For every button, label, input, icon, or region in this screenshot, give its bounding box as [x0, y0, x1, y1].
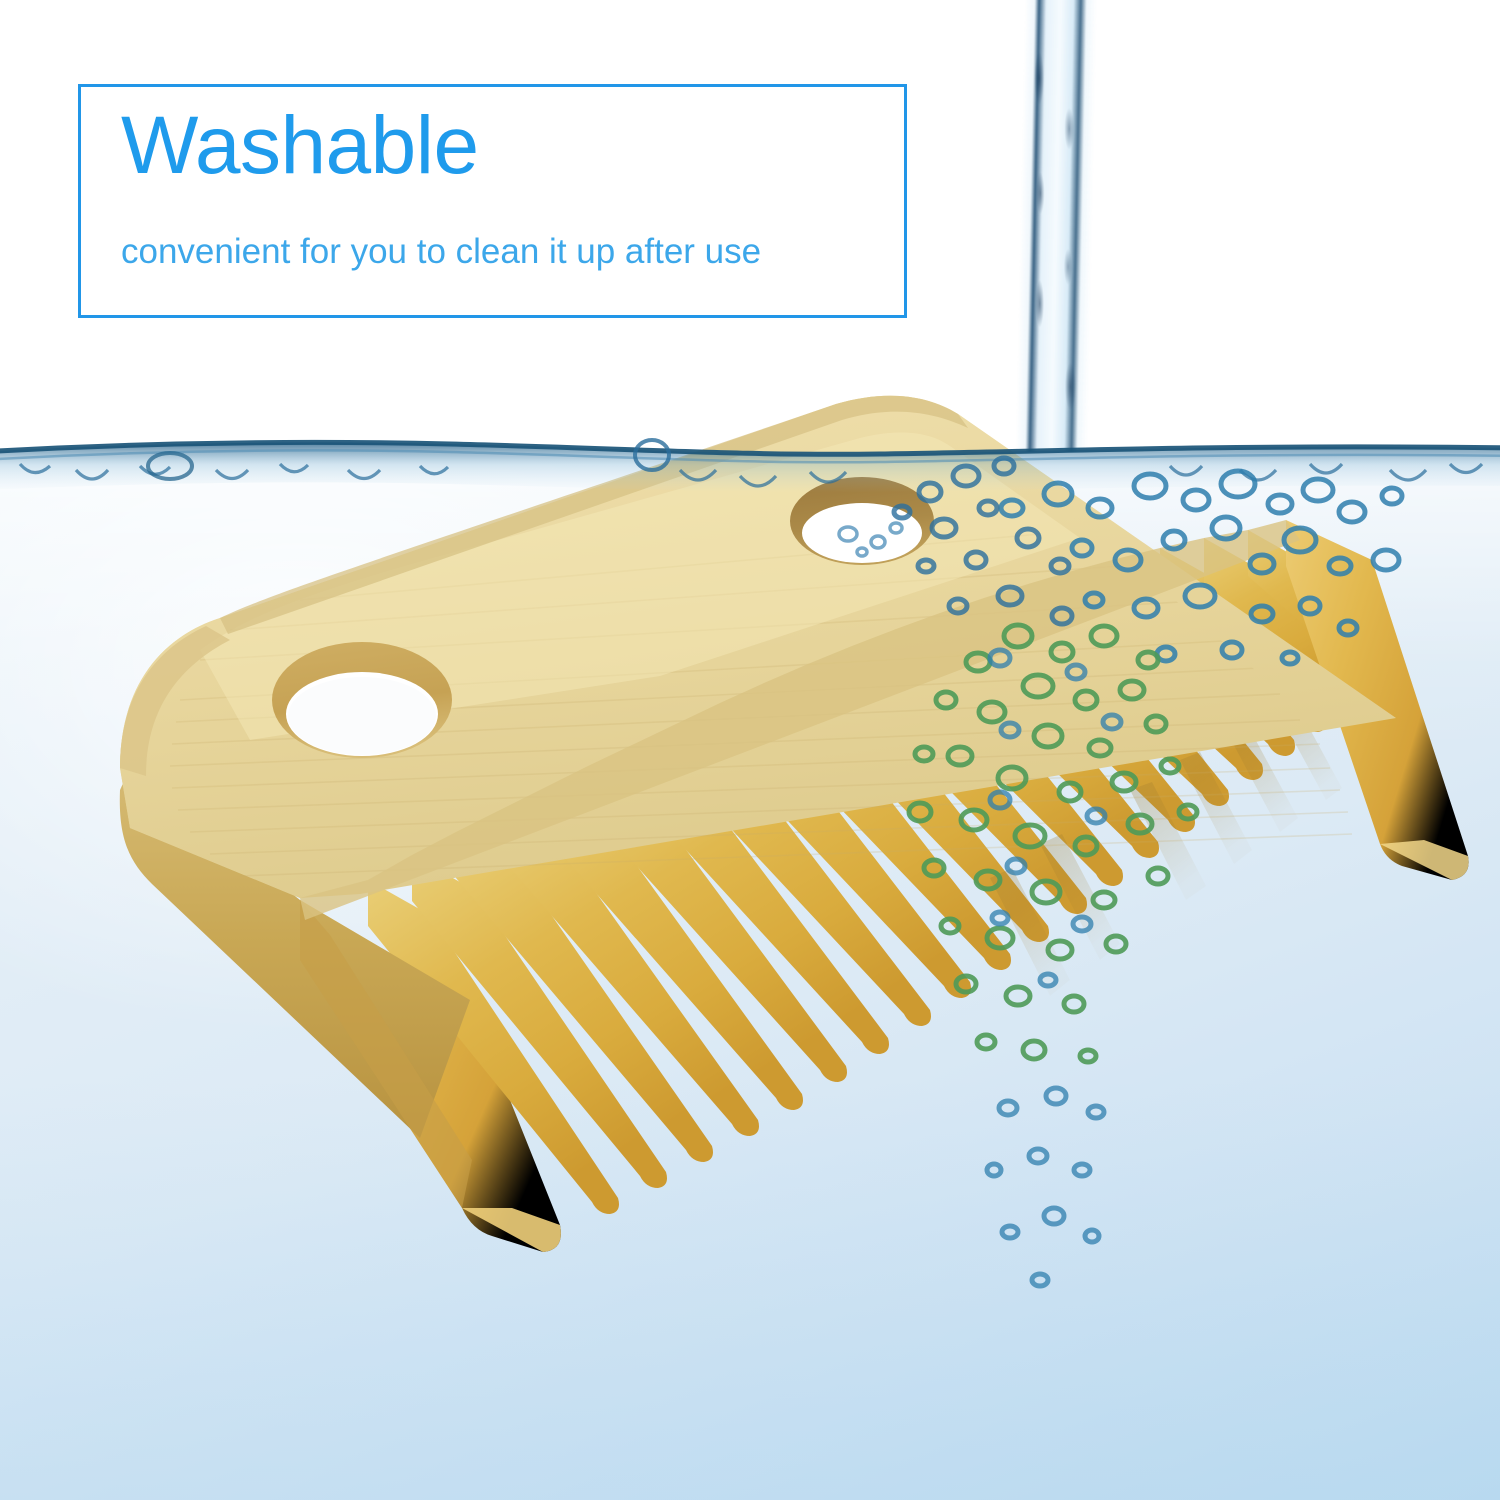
product-banner: Washable convenient for you to clean it …: [0, 0, 1500, 1500]
water-stream-highlights: [1026, 0, 1086, 460]
caption-box: Washable convenient for you to clean it …: [78, 84, 907, 318]
page-subtitle: convenient for you to clean it up after …: [121, 233, 761, 272]
page-title: Washable: [121, 105, 479, 187]
water-sheen: [0, 452, 1500, 752]
water-depth-shading: [0, 1080, 1500, 1500]
